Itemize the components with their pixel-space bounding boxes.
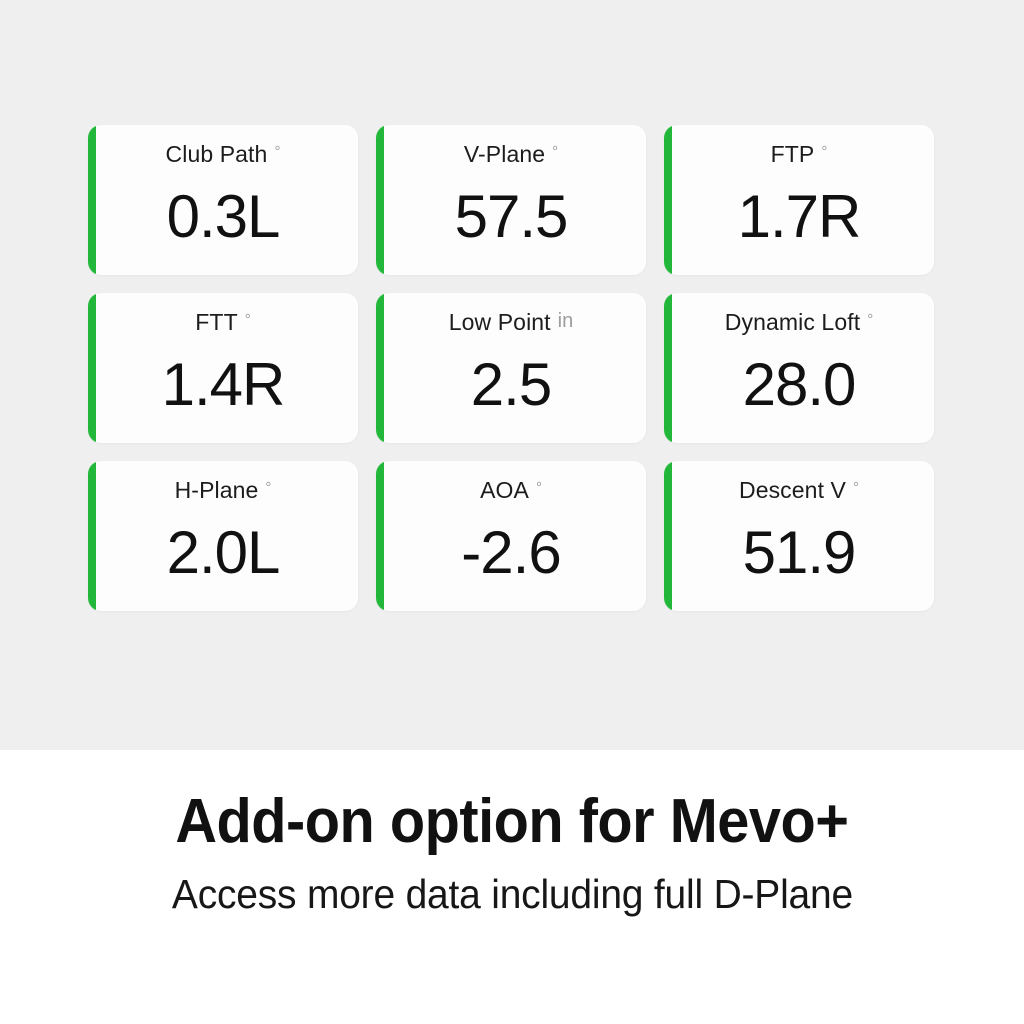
degree-icon: ° bbox=[274, 144, 280, 159]
promo-screen: Club Path°0.3LV-Plane°57.5FTP°1.7RFTT°1.… bbox=[0, 0, 1024, 1024]
metric-value: 0.3L bbox=[88, 166, 358, 275]
metric-card[interactable]: Low Pointin2.5 bbox=[376, 293, 646, 443]
metric-value: 51.9 bbox=[664, 502, 934, 611]
degree-icon: ° bbox=[245, 312, 251, 327]
metric-value: 2.5 bbox=[376, 334, 646, 443]
metric-card[interactable]: V-Plane°57.5 bbox=[376, 125, 646, 275]
degree-icon: ° bbox=[867, 312, 873, 327]
metric-value: 28.0 bbox=[664, 334, 934, 443]
metric-card[interactable]: Club Path°0.3L bbox=[88, 125, 358, 275]
metric-header: FTT° bbox=[195, 311, 250, 334]
metric-accent-bar bbox=[376, 461, 384, 611]
caption-panel: Add-on option for Mevo+ Access more data… bbox=[0, 750, 1024, 1024]
metric-card[interactable]: FTP°1.7R bbox=[664, 125, 934, 275]
metric-label: FTP bbox=[771, 143, 815, 166]
metric-accent-bar bbox=[664, 293, 672, 443]
metric-header: AOA° bbox=[480, 479, 542, 502]
metric-accent-bar bbox=[88, 125, 96, 275]
degree-icon: ° bbox=[853, 480, 859, 495]
metric-value: 57.5 bbox=[376, 166, 646, 275]
degree-icon: ° bbox=[821, 144, 827, 159]
metrics-panel: Club Path°0.3LV-Plane°57.5FTP°1.7RFTT°1.… bbox=[0, 0, 1024, 750]
metric-header: Dynamic Loft° bbox=[725, 311, 873, 334]
metric-label: V-Plane bbox=[464, 143, 545, 166]
metric-header: Club Path° bbox=[166, 143, 281, 166]
metric-card[interactable]: FTT°1.4R bbox=[88, 293, 358, 443]
metric-label: Descent V bbox=[739, 479, 846, 502]
degree-icon: ° bbox=[552, 144, 558, 159]
metric-label: H-Plane bbox=[175, 479, 259, 502]
metric-value: 1.4R bbox=[88, 334, 358, 443]
metric-card[interactable]: Descent V°51.9 bbox=[664, 461, 934, 611]
metric-card[interactable]: H-Plane°2.0L bbox=[88, 461, 358, 611]
metric-accent-bar bbox=[88, 293, 96, 443]
metric-accent-bar bbox=[88, 461, 96, 611]
metric-value: -2.6 bbox=[376, 502, 646, 611]
degree-icon: ° bbox=[265, 480, 271, 495]
metric-label: Dynamic Loft bbox=[725, 311, 860, 334]
metric-label: Club Path bbox=[166, 143, 268, 166]
metrics-grid: Club Path°0.3LV-Plane°57.5FTP°1.7RFTT°1.… bbox=[88, 125, 934, 611]
metric-value: 2.0L bbox=[88, 502, 358, 611]
metric-header: FTP° bbox=[771, 143, 828, 166]
metric-accent-bar bbox=[376, 293, 384, 443]
metric-unit: in bbox=[558, 311, 574, 331]
metric-label: AOA bbox=[480, 479, 529, 502]
metric-label: Low Point bbox=[449, 311, 551, 334]
metric-value: 1.7R bbox=[664, 166, 934, 275]
metric-accent-bar bbox=[376, 125, 384, 275]
metric-header: H-Plane° bbox=[175, 479, 272, 502]
metric-header: V-Plane° bbox=[464, 143, 558, 166]
metric-accent-bar bbox=[664, 461, 672, 611]
metric-label: FTT bbox=[195, 311, 237, 334]
metric-card[interactable]: AOA°-2.6 bbox=[376, 461, 646, 611]
metric-header: Descent V° bbox=[739, 479, 859, 502]
metric-card[interactable]: Dynamic Loft°28.0 bbox=[664, 293, 934, 443]
metric-accent-bar bbox=[664, 125, 672, 275]
degree-icon: ° bbox=[536, 480, 542, 495]
caption-headline: Add-on option for Mevo+ bbox=[175, 789, 848, 854]
metric-header: Low Pointin bbox=[449, 311, 574, 334]
caption-subheading: Access more data including full D-Plane bbox=[171, 872, 852, 917]
